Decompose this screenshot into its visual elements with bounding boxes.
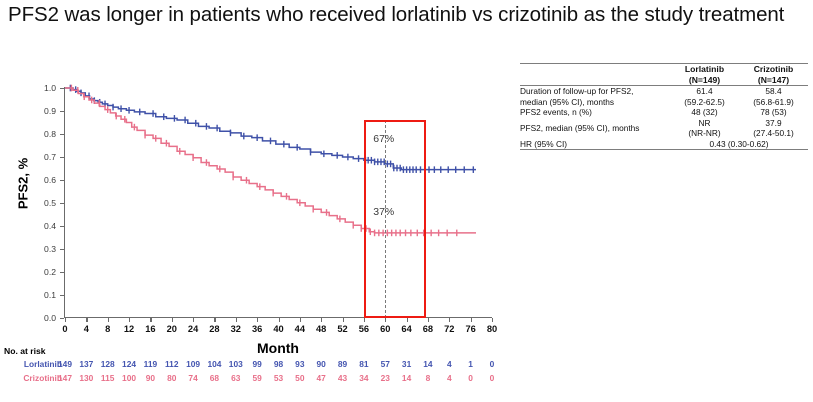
risk-value: 81 (353, 358, 375, 371)
stats-cell-l2: (NR-NR) (688, 128, 720, 138)
stats-row: Duration of follow-up for PFS2,median (9… (520, 86, 808, 108)
stats-row-label: PFS2, median (95% CI), months (520, 118, 670, 139)
annotation-pct-crizotinib: 37% (373, 206, 394, 218)
survival-curves (0, 58, 510, 358)
stats-header-lorlatinib-n: (N=149) (689, 75, 720, 85)
stats-cell-b: 58.4(56.8-61.9) (739, 86, 808, 108)
risk-value: 130 (75, 372, 97, 385)
risk-value: 53 (268, 372, 290, 385)
risk-table-title: No. at risk (4, 346, 46, 356)
risk-value: 98 (268, 358, 290, 371)
stats-row-label: Duration of follow-up for PFS2,median (9… (520, 86, 670, 108)
stats-cell-l1: 58.4 (765, 86, 781, 96)
risk-value: 68 (203, 372, 225, 385)
stats-cell-b: 78 (53) (739, 107, 808, 118)
stats-cell-a: NR(NR-NR) (670, 118, 739, 139)
stats-bottom-rule-cell (520, 150, 808, 151)
risk-value: 8 (417, 372, 439, 385)
stats-hr-label: HR (95% CI) (520, 139, 670, 150)
annotation-pct-lorlatinib: 67% (373, 133, 394, 145)
risk-value: 63 (225, 372, 247, 385)
risk-value: 23 (374, 372, 396, 385)
risk-value: 128 (97, 358, 119, 371)
stats-row-label-l2: median (95% CI), months (520, 97, 614, 107)
stats-row-label-l1: Duration of follow-up for PFS2, (520, 86, 633, 96)
stats-row: PFS2, median (95% CI), monthsNR(NR-NR)37… (520, 118, 808, 139)
stats-header-crizotinib-n: (N=147) (758, 75, 789, 85)
risk-value: 124 (118, 358, 140, 371)
risk-row-lorlatinib: Lorlatinib149137128124119112109104103999… (0, 358, 510, 371)
risk-value: 0 (481, 358, 503, 371)
stats-header-lorlatinib-name: Lorlatinib (685, 64, 724, 74)
stats-cell-l1: NR (699, 118, 711, 128)
stats-row-hr: HR (95% CI)0.43 (0.30-0.62) (520, 139, 808, 150)
risk-value: 31 (396, 358, 418, 371)
stats-cell-l1: 61.4 (696, 86, 712, 96)
risk-value: 1 (460, 358, 482, 371)
risk-value: 93 (289, 358, 311, 371)
risk-value: 100 (118, 372, 140, 385)
stats-cell-l1: 78 (53) (760, 107, 786, 117)
statistics-table: Lorlatinib (N=149) Crizotinib (N=147) Du… (520, 63, 808, 150)
stats-row-label-l1: PFS2 events, n (%) (520, 107, 592, 117)
risk-value: 90 (310, 358, 332, 371)
risk-value: 112 (161, 358, 183, 371)
stats-row-label: PFS2 events, n (%) (520, 107, 670, 118)
risk-row-label: Crizotinib (0, 372, 62, 385)
stats-header-blank (520, 64, 670, 86)
risk-value: 119 (139, 358, 161, 371)
risk-value: 104 (203, 358, 225, 371)
risk-value: 74 (182, 372, 204, 385)
risk-value: 137 (75, 358, 97, 371)
stats-row: PFS2 events, n (%)48 (32)78 (53) (520, 107, 808, 118)
stats-header-crizotinib: Crizotinib (N=147) (739, 64, 808, 86)
risk-row-label: Lorlatinib (0, 358, 62, 371)
stats-cell-a: 61.4(59.2-62.5) (670, 86, 739, 108)
risk-value: 115 (97, 372, 119, 385)
risk-value: 43 (332, 372, 354, 385)
risk-value: 59 (246, 372, 268, 385)
risk-value: 34 (353, 372, 375, 385)
risk-value: 0 (460, 372, 482, 385)
risk-value: 90 (139, 372, 161, 385)
risk-value: 0 (481, 372, 503, 385)
stats-cell-l2: (56.8-61.9) (753, 97, 794, 107)
stats-cell-l1: 48 (32) (691, 107, 717, 117)
risk-value: 14 (417, 358, 439, 371)
stats-bottom-rule (520, 150, 808, 151)
kaplan-meier-chart: PFS2, % Month 0.00.10.20.30.40.50.60.70.… (0, 58, 510, 358)
stats-cell-l1: 37.9 (765, 118, 781, 128)
risk-row-crizotinib: Crizotinib147130115100908074686359535047… (0, 372, 510, 385)
stats-cell-l2: (59.2-62.5) (684, 97, 725, 107)
risk-value: 14 (396, 372, 418, 385)
risk-value: 89 (332, 358, 354, 371)
stats-cell-a: 48 (32) (670, 107, 739, 118)
risk-value: 47 (310, 372, 332, 385)
stats-header-lorlatinib: Lorlatinib (N=149) (670, 64, 739, 86)
risk-value: 50 (289, 372, 311, 385)
risk-value: 103 (225, 358, 247, 371)
stats-hr-value: 0.43 (0.30-0.62) (670, 139, 808, 150)
risk-value: 149 (54, 358, 76, 371)
page-title: PFS2 was longer in patients who received… (8, 2, 808, 28)
risk-value: 4 (438, 372, 460, 385)
risk-value: 147 (54, 372, 76, 385)
stats-cell-l2: (27.4-50.1) (753, 128, 794, 138)
risk-value: 109 (182, 358, 204, 371)
risk-value: 99 (246, 358, 268, 371)
risk-value: 57 (374, 358, 396, 371)
stats-row-label-l1: PFS2, median (95% CI), months (520, 123, 639, 133)
stats-header-crizotinib-name: Crizotinib (754, 64, 794, 74)
risk-value: 4 (438, 358, 460, 371)
highlight-box (364, 120, 426, 318)
stats-cell-b: 37.9(27.4-50.1) (739, 118, 808, 139)
risk-value: 80 (161, 372, 183, 385)
